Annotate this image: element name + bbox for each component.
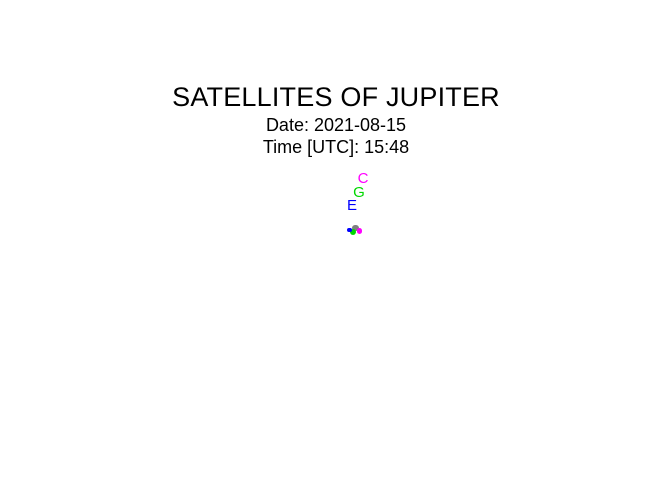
jupiter-satellites-figure: SATELLITES OF JUPITER Date: 2021-08-15 T… — [0, 0, 672, 480]
moon-dot-europa — [347, 228, 351, 232]
moon-label-europa: E — [345, 198, 359, 213]
sky-plot-area: C G E — [0, 0, 672, 480]
moon-dot-callisto — [357, 228, 363, 234]
